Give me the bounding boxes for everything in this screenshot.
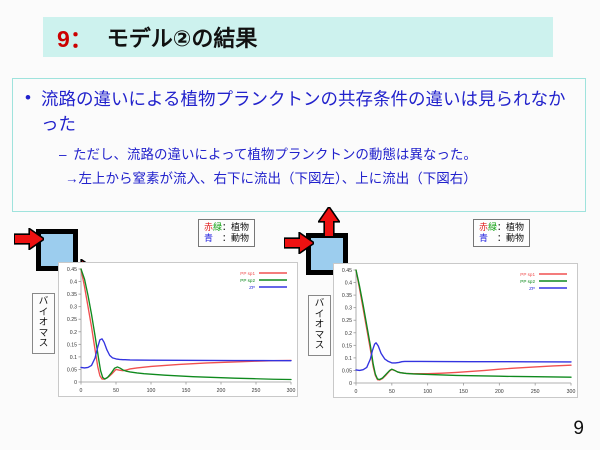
line-chart-right: 05010015020025030000.050.10.150.20.250.3… <box>333 263 578 398</box>
color-key-box-left: 赤緑：植物 青 ：動物 <box>198 219 255 247</box>
key-blue-label-right: 青 <box>479 233 488 243</box>
slide-title-bar: 9： モデル②の結果 <box>43 17 553 57</box>
svg-text:0.15: 0.15 <box>67 342 77 348</box>
sub-bullet-item-2: →左上から窒素が流入、右下に流出（下図左）、上に流出（下図右） <box>65 168 577 189</box>
series-line-pp-sp2 <box>356 270 571 379</box>
legend-label-pp-sp2: PP sp2 <box>520 279 535 284</box>
key-animal-label-left: ：動物 <box>213 233 249 243</box>
y-axis-label-right: バ イ オ マ ス <box>308 295 331 356</box>
svg-text:0.15: 0.15 <box>342 343 352 349</box>
bullet-item-1: • 流路の違いによる植物プランクトンの共存条件の違いは見られなかった <box>25 87 575 137</box>
page-title: モデル②の結果 <box>107 21 258 53</box>
y-axis-label-char-0-right: バ <box>311 299 328 310</box>
legend-label-pp-sp1: PP sp1 <box>240 271 255 276</box>
svg-text:50: 50 <box>113 388 119 394</box>
y-axis-label-char-4-right: ス <box>311 341 328 352</box>
key-green-label-right: 緑 <box>488 222 497 232</box>
svg-text:100: 100 <box>147 388 156 394</box>
svg-text:0: 0 <box>74 380 77 386</box>
body-content-box: • 流路の違いによる植物プランクトンの共存条件の違いは見られなかった –ただし、… <box>12 78 586 212</box>
series-line-pp-sp1 <box>81 269 291 379</box>
svg-text:0.25: 0.25 <box>67 317 77 323</box>
y-axis-label-char-4-left: ス <box>35 339 52 350</box>
svg-text:0.3: 0.3 <box>345 306 352 312</box>
legend-label-zp: ZP <box>529 286 535 291</box>
key-plant-label-left: ：植物 <box>222 222 249 232</box>
svg-text:200: 200 <box>495 389 504 395</box>
figure-panel-left: 赤緑：植物 青 ：動物 バ イ オ マ ス 050100150200250300… <box>18 215 303 405</box>
sub-bullet-item-2-label: →左上から窒素が流入、右下に流出（下図左）、上に流出（下図右） <box>65 171 477 186</box>
y-axis-label-char-2-right: オ <box>311 320 328 331</box>
svg-text:0.1: 0.1 <box>70 355 77 361</box>
svg-text:0.2: 0.2 <box>345 331 352 337</box>
svg-text:0.35: 0.35 <box>342 293 352 299</box>
svg-text:0.3: 0.3 <box>70 305 77 311</box>
svg-text:0: 0 <box>349 381 352 387</box>
key-blue-label-left: 青 <box>204 233 213 243</box>
page-number: 9 <box>573 418 584 440</box>
outflow-arrow-icon-right <box>318 207 340 237</box>
svg-text:200: 200 <box>217 388 226 394</box>
color-key-row-plant-left: 赤緑：植物 <box>204 222 249 233</box>
chart-svg-left: 05010015020025030000.050.10.150.20.250.3… <box>59 263 297 396</box>
svg-text:0.4: 0.4 <box>345 281 352 287</box>
color-key-row-animal-left: 青 ：動物 <box>204 233 249 244</box>
inflow-arrow-icon-right <box>284 232 314 254</box>
svg-text:0.2: 0.2 <box>70 330 77 336</box>
key-plant-label-right: ：植物 <box>497 222 524 232</box>
series-line-pp-sp2 <box>81 269 291 379</box>
key-animal-label-right: ：動物 <box>488 233 524 243</box>
color-key-row-plant-right: 赤緑：植物 <box>479 222 524 233</box>
line-chart-left: 05010015020025030000.050.10.150.20.250.3… <box>58 262 298 397</box>
svg-text:250: 250 <box>531 389 540 395</box>
svg-text:0: 0 <box>355 389 358 395</box>
svg-text:0.1: 0.1 <box>345 356 352 362</box>
sub-bullet-marker-icon: – <box>59 144 73 165</box>
key-red-label-right: 赤 <box>479 222 488 232</box>
slide-title-number: 9： <box>57 20 93 54</box>
svg-text:0.05: 0.05 <box>342 368 352 374</box>
bullet-marker-icon: • <box>25 87 41 109</box>
svg-text:150: 150 <box>182 388 191 394</box>
chart-svg-right: 05010015020025030000.050.10.150.20.250.3… <box>334 264 577 397</box>
svg-text:0.45: 0.45 <box>67 267 77 273</box>
inflow-arrow-icon-left <box>14 228 44 250</box>
y-axis-label-left: バ イ オ マ ス <box>32 293 55 354</box>
slide-canvas: 9： モデル②の結果 • 流路の違いによる植物プランクトンの共存条件の違いは見ら… <box>0 0 600 450</box>
legend-label-pp-sp2: PP sp2 <box>240 278 255 283</box>
legend-label-pp-sp1: PP sp1 <box>520 272 535 277</box>
svg-text:50: 50 <box>389 389 395 395</box>
color-key-row-animal-right: 青 ：動物 <box>479 233 524 244</box>
sub-bullet-item-1: –ただし、流路の違いによって植物プランクトンの動態は異なった。 <box>59 144 577 165</box>
svg-text:100: 100 <box>423 389 432 395</box>
bullet-item-1-label: 流路の違いによる植物プランクトンの共存条件の違いは見られなかった <box>41 87 575 137</box>
legend-label-zp: ZP <box>249 285 255 290</box>
svg-text:0.05: 0.05 <box>67 367 77 373</box>
svg-text:150: 150 <box>459 389 468 395</box>
svg-text:300: 300 <box>287 388 296 394</box>
key-green-label-left: 緑 <box>213 222 222 232</box>
svg-text:0.25: 0.25 <box>342 318 352 324</box>
svg-text:0.4: 0.4 <box>70 280 77 286</box>
sub-bullet-item-1-label: ただし、流路の違いによって植物プランクトンの動態は異なった。 <box>73 147 477 162</box>
y-axis-label-char-0-left: バ <box>35 297 52 308</box>
series-line-pp-sp1 <box>356 270 571 380</box>
svg-text:0.35: 0.35 <box>67 292 77 298</box>
color-key-box-right: 赤緑：植物 青 ：動物 <box>473 219 530 247</box>
key-red-label-left: 赤 <box>204 222 213 232</box>
svg-text:0: 0 <box>80 388 83 394</box>
y-axis-label-char-2-left: オ <box>35 318 52 329</box>
svg-text:250: 250 <box>252 388 261 394</box>
figure-panel-right: 赤緑：植物 青 ：動物 バ イ オ マ ス 050100150200250300… <box>298 215 588 405</box>
svg-text:0.45: 0.45 <box>342 268 352 274</box>
svg-text:300: 300 <box>567 389 576 395</box>
